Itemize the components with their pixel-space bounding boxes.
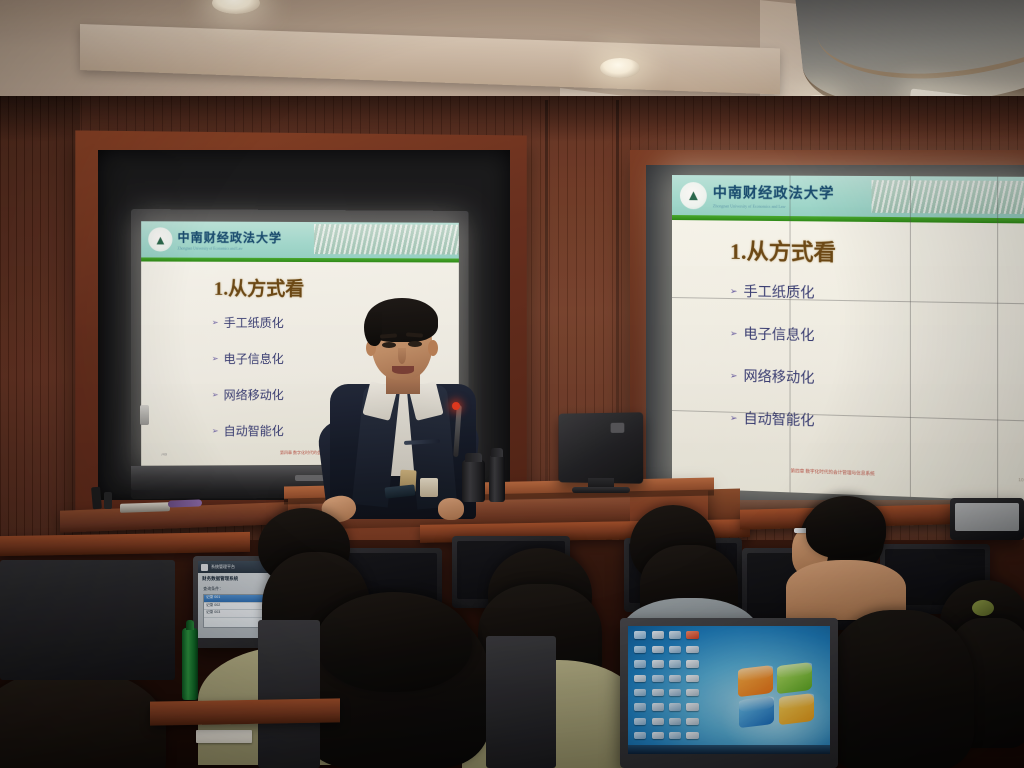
desktop-icon[interactable] <box>686 675 698 682</box>
purple-pen-icon[interactable] <box>168 499 202 507</box>
slide-bullet-text: 手工纸质化 <box>224 314 284 331</box>
desktop-icon[interactable] <box>686 689 698 696</box>
podium-monitor[interactable] <box>559 412 644 483</box>
lecture-hall-photo: ▲ 中南财经政法大学 Zhongnan University of Econom… <box>0 0 1024 768</box>
presenter-hand <box>438 498 464 520</box>
windows-logo-icon <box>737 664 814 728</box>
bullet-arrow-icon: ➢ <box>212 318 219 327</box>
led-panel-seam <box>790 176 791 493</box>
slide-university-name-cn: 中南财经政法大学 <box>178 228 283 245</box>
desktop-icon[interactable] <box>686 703 698 710</box>
presenter-mouth <box>392 366 414 374</box>
desktop-icon[interactable] <box>669 689 681 696</box>
desktop-icon[interactable] <box>634 732 646 739</box>
thermos-flask-icon[interactable] <box>489 455 505 502</box>
whiteboard-marker-icon[interactable] <box>104 492 112 509</box>
desktop-icon[interactable] <box>686 718 698 725</box>
windows-taskbar[interactable] <box>628 745 830 754</box>
presenter-eye <box>382 342 396 348</box>
bullet-arrow-icon: ➢ <box>730 370 738 381</box>
slide-right: ▲ 中南财经政法大学 Zhongnan University of Econom… <box>672 175 1024 501</box>
desktop-icon[interactable] <box>686 732 698 739</box>
bullet-arrow-icon: ➢ <box>730 328 738 339</box>
led-panel-seam <box>997 177 998 500</box>
desk-seat-label <box>196 730 252 743</box>
desktop-icon[interactable] <box>669 675 681 682</box>
desktop-icon[interactable] <box>652 646 664 653</box>
desktop-icon[interactable] <box>669 732 681 739</box>
desktop-icon[interactable] <box>634 689 646 696</box>
university-logo-icon: ▲ <box>148 227 172 251</box>
monitor-screen <box>955 503 1019 531</box>
slide-bullet-2: ➢ 电子信息化 <box>730 323 967 348</box>
desktop-icon[interactable] <box>634 660 646 667</box>
slide-title: 1.从方式看 <box>214 274 304 301</box>
chair-back <box>486 636 556 768</box>
desktop-icon[interactable] <box>652 732 664 739</box>
slide-title: 1.从方式看 <box>730 234 836 268</box>
bullet-arrow-icon: ➢ <box>730 285 738 296</box>
presenter-eye <box>408 341 422 347</box>
slide-header-rule <box>141 257 459 262</box>
desktop-icon[interactable] <box>669 631 681 638</box>
slide-bullet-text: 电子信息化 <box>744 323 815 345</box>
app-icon <box>201 564 208 571</box>
windows-7-desktop[interactable] <box>628 626 830 754</box>
bullet-arrow-icon: ➢ <box>212 354 219 363</box>
query-field-label: 查询条件： <box>203 586 223 592</box>
slide-bullet-text: 自动智能化 <box>224 422 284 439</box>
desktop-icon[interactable] <box>686 646 698 653</box>
thermos-bottle-icon[interactable] <box>462 460 485 502</box>
presenter <box>320 300 470 515</box>
desktop-icon[interactable] <box>669 718 681 725</box>
led-panel-seam <box>910 176 911 497</box>
desktop-icon[interactable] <box>652 689 664 696</box>
bullet-arrow-icon: ➢ <box>212 426 219 435</box>
slide-corner-number: 10 <box>1018 477 1023 482</box>
slide-university-name-en: Zhongnan University of Economics and Law <box>713 203 835 209</box>
window-title: 系统管理平台 <box>211 564 235 570</box>
chair-back <box>258 620 320 768</box>
presenter-ear <box>428 340 438 356</box>
student-head-right <box>824 610 974 768</box>
student-hair <box>806 496 886 558</box>
slide-header-artwork <box>314 224 459 255</box>
presenter-hair-side <box>364 312 382 346</box>
desktop-icon[interactable] <box>634 646 646 653</box>
desktop-icon-grid[interactable] <box>632 630 701 750</box>
student-hair <box>316 592 472 692</box>
wall-seam <box>545 100 548 530</box>
desktop-icon[interactable] <box>686 660 698 667</box>
slide-bullet-3: ➢ 网络移动化 <box>730 365 967 391</box>
desktop-icon[interactable] <box>652 660 664 667</box>
slide-header-artwork <box>872 180 1024 214</box>
desktop-icon[interactable] <box>669 703 681 710</box>
bullet-arrow-icon: ➢ <box>730 412 738 423</box>
slide-bullet-text: 电子信息化 <box>224 350 284 367</box>
student-monitor-win7[interactable] <box>620 618 838 768</box>
desktop-icon[interactable] <box>652 675 664 682</box>
desktop-icon[interactable] <box>652 703 664 710</box>
slide-university-name-cn: 中南财经政法大学 <box>713 182 835 203</box>
desktop-icon[interactable] <box>634 631 646 638</box>
slide-header: ▲ 中南财经政法大学 Zhongnan University of Econom… <box>141 221 459 258</box>
desktop-icon[interactable] <box>652 718 664 725</box>
presenter-nose <box>398 348 406 364</box>
slide-university-name-en: Zhongnan University of Economics and Law <box>178 247 283 251</box>
slide-page-number: /49 <box>161 452 167 457</box>
downlight-icon <box>600 58 640 78</box>
desktop-icon[interactable] <box>669 660 681 667</box>
desktop-icon[interactable] <box>634 675 646 682</box>
podium-monitor-base <box>572 487 630 493</box>
whiteboard-marker-icon[interactable] <box>91 487 102 510</box>
microphone-status-led <box>452 402 460 410</box>
hair-scrunchie-icon <box>972 600 994 616</box>
slide-bullet-text: 网络移动化 <box>744 366 815 388</box>
led-video-wall[interactable]: ▲ 中南财经政法大学 Zhongnan University of Econom… <box>672 175 1024 501</box>
desktop-icon[interactable] <box>686 631 698 638</box>
chair-back <box>0 560 175 680</box>
slide-footer: 第四章 数字化时代的会计管理与信息系统 <box>791 468 875 477</box>
board-eraser-icon[interactable] <box>120 502 170 513</box>
student-monitor[interactable] <box>950 498 1024 540</box>
desktop-icon[interactable] <box>634 718 646 725</box>
slide-bullet-text: 网络移动化 <box>224 386 284 403</box>
green-water-bottle[interactable] <box>182 628 198 700</box>
slide-header: ▲ 中南财经政法大学 Zhongnan University of Econom… <box>672 175 1024 218</box>
paper-cup-icon[interactable] <box>420 478 438 497</box>
window-subtitle: 财务数据管理系统 <box>202 576 238 582</box>
desktop-icon[interactable] <box>652 631 664 638</box>
projector-side-button[interactable] <box>140 405 149 425</box>
bullet-arrow-icon: ➢ <box>212 390 219 399</box>
desktop-icon[interactable] <box>669 646 681 653</box>
university-logo-icon: ▲ <box>680 182 707 209</box>
desk-edge <box>150 698 340 725</box>
desktop-icon[interactable] <box>634 703 646 710</box>
